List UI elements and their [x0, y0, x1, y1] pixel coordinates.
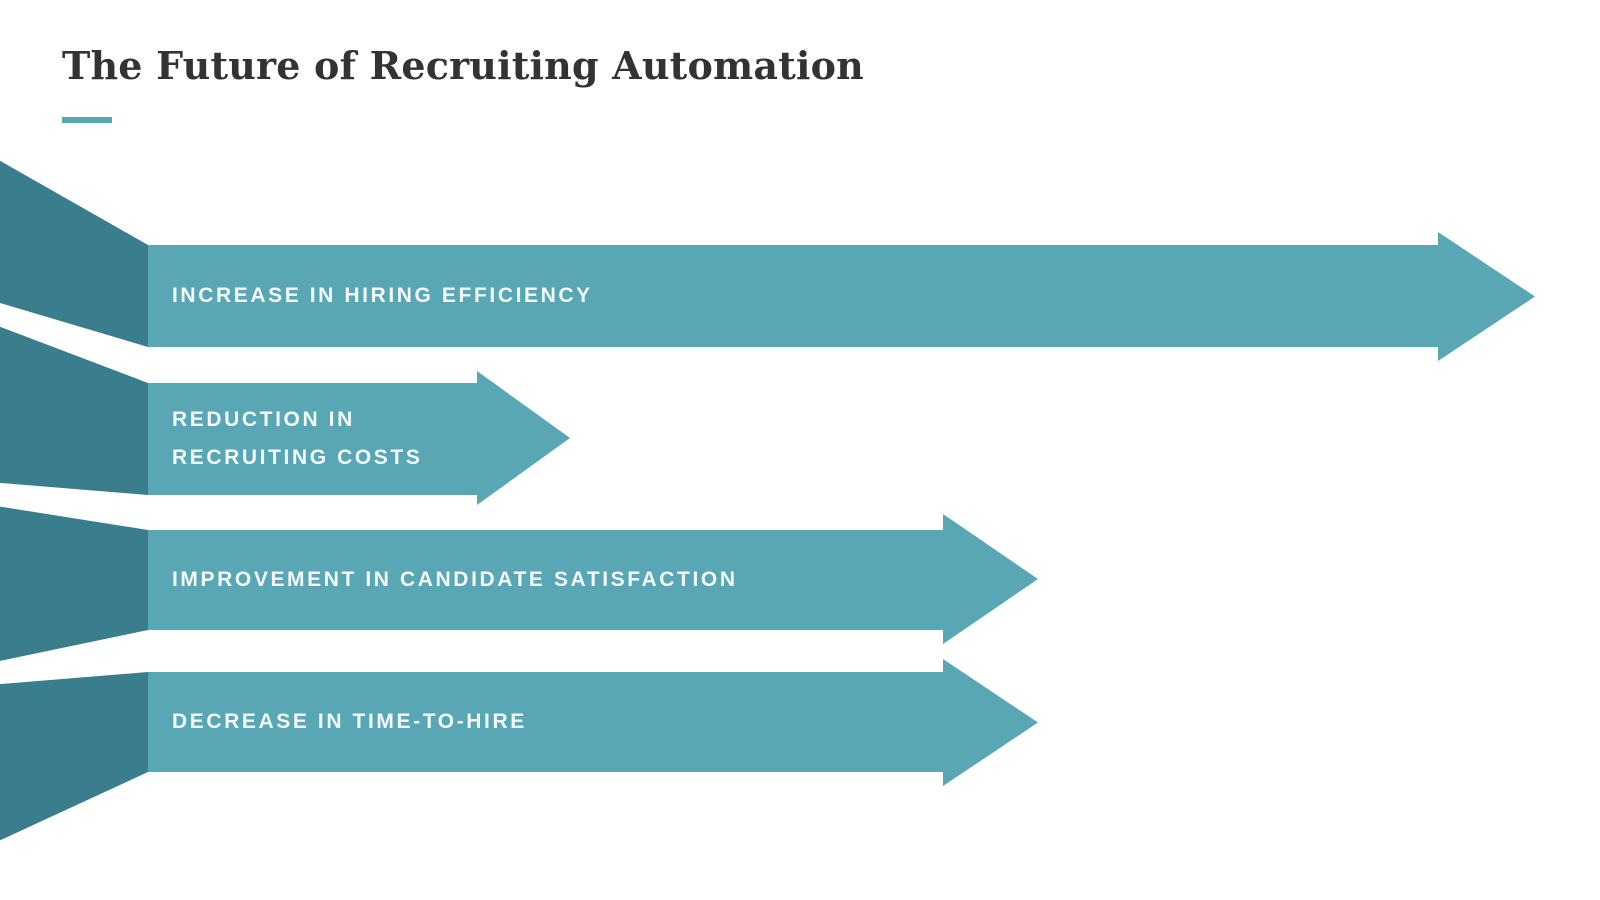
funnel-increase-in-hiring-efficiency	[0, 155, 148, 347]
funnel-wedge-group	[0, 155, 148, 845]
funnel-reduction-in-recruiting-costs	[0, 323, 148, 495]
arrow-bar-3[interactable]	[148, 659, 1038, 786]
arrow-bar-group	[148, 232, 1535, 786]
funnel-improvement-in-candidate-satisfaction	[0, 505, 148, 663]
arrow-bar-chart: INCREASE IN HIRING EFFICIENCY REDUCTION …	[0, 0, 1600, 900]
funnel-decrease-in-time-to-hire	[0, 672, 148, 845]
arrow-bar-2[interactable]	[148, 514, 1038, 644]
slide-canvas: The Future of Recruiting Automation INCR…	[0, 0, 1600, 900]
arrow-bar-0[interactable]	[148, 232, 1535, 361]
arrow-chart-svg	[0, 0, 1600, 900]
arrow-bar-1[interactable]	[148, 371, 570, 505]
